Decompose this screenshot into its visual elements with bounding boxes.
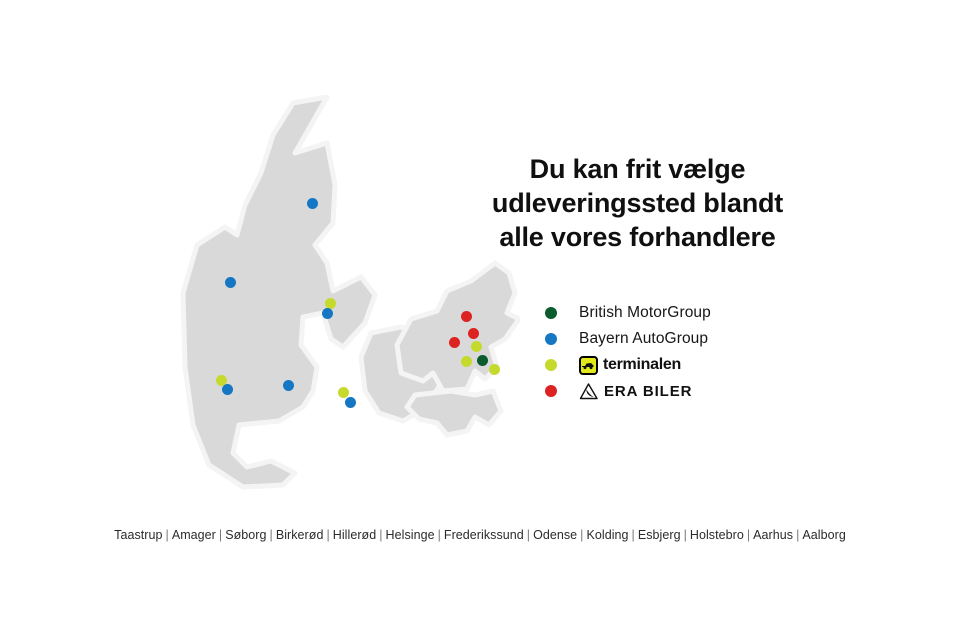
legend: British MotorGroup Bayern AutoGroup term… — [545, 300, 805, 404]
city-hillerød: Hillerød — [333, 528, 376, 542]
map-dot-esbjerg-bayern[interactable] — [222, 384, 233, 395]
terminalen-car-icon — [579, 356, 598, 375]
legend-swatch-blue — [545, 333, 557, 345]
city-aalborg: Aalborg — [802, 528, 845, 542]
denmark-map — [175, 95, 520, 505]
city-separator: | — [376, 528, 385, 542]
legend-label-british-motorgroup: British MotorGroup — [579, 304, 711, 322]
city-kolding: Kolding — [586, 528, 628, 542]
city-separator: | — [435, 528, 444, 542]
map-dot-amager-terminalen[interactable] — [489, 364, 500, 375]
city-separator: | — [629, 528, 638, 542]
city-taastrup: Taastrup — [114, 528, 162, 542]
terminalen-wordmark: terminalen — [603, 356, 681, 374]
legend-label-bayern-autogroup: Bayern AutoGroup — [579, 330, 708, 348]
terminalen-logo: terminalen — [579, 356, 681, 375]
era-biler-triangle-icon — [579, 383, 599, 400]
city-separator: | — [323, 528, 332, 542]
headline-line-2: udleveringssted blandt — [470, 186, 805, 220]
legend-item-bayern-autogroup[interactable]: Bayern AutoGroup — [545, 326, 805, 352]
city-separator: | — [744, 528, 753, 542]
city-birkerød: Birkerød — [276, 528, 324, 542]
city-odense: Odense — [533, 528, 577, 542]
map-dot-odense-terminalen[interactable] — [338, 387, 349, 398]
city-frederikssund: Frederikssund — [444, 528, 524, 542]
map-dot-frederikssund-era[interactable] — [449, 337, 460, 348]
map-dot-kolding[interactable] — [283, 380, 294, 391]
page-title: Du kan frit vælge udleveringssted blandt… — [470, 152, 805, 254]
headline-line-1: Du kan frit vælge — [470, 152, 805, 186]
map-dot-hillerod-era[interactable] — [468, 328, 479, 339]
era-biler-wordmark: ERA BILER — [604, 383, 692, 400]
map-dot-helsinge-era[interactable] — [461, 311, 472, 322]
legend-item-era-biler[interactable]: ERA BILER — [545, 378, 805, 404]
city-aarhus: Aarhus — [753, 528, 793, 542]
legend-swatch-yellow — [545, 359, 557, 371]
region-zealand — [397, 263, 519, 391]
headline-line-3: alle vores forhandlere — [470, 220, 805, 254]
denmark-map-svg — [175, 95, 520, 505]
map-dot-birkerod-terminalen[interactable] — [471, 341, 482, 352]
map-dot-holstebro[interactable] — [225, 277, 236, 288]
city-list: Taastrup|Amager|Søborg|Birkerød|Hillerød… — [0, 528, 960, 542]
city-separator: | — [681, 528, 690, 542]
city-søborg: Søborg — [225, 528, 266, 542]
map-dot-aalborg[interactable] — [307, 198, 318, 209]
legend-item-british-motorgroup[interactable]: British MotorGroup — [545, 300, 805, 326]
map-dot-taastrup-terminalen[interactable] — [461, 356, 472, 367]
city-separator: | — [793, 528, 802, 542]
city-separator: | — [267, 528, 276, 542]
city-separator: | — [524, 528, 533, 542]
map-dot-aarhus-terminalen[interactable] — [325, 298, 336, 309]
city-separator: | — [216, 528, 225, 542]
legend-swatch-red — [545, 385, 557, 397]
city-amager: Amager — [172, 528, 216, 542]
city-holstebro: Holstebro — [690, 528, 744, 542]
legend-swatch-green — [545, 307, 557, 319]
map-dot-odense-bayern[interactable] — [345, 397, 356, 408]
legend-item-terminalen[interactable]: terminalen — [545, 352, 805, 378]
region-jutland — [183, 97, 375, 487]
poster-canvas: Du kan frit vælge udleveringssted blandt… — [0, 0, 960, 640]
map-dot-aarhus-bayern[interactable] — [322, 308, 333, 319]
city-helsinge: Helsinge — [386, 528, 435, 542]
city-esbjerg: Esbjerg — [638, 528, 681, 542]
city-separator: | — [163, 528, 172, 542]
era-biler-logo: ERA BILER — [579, 383, 692, 400]
map-dot-soborg-british[interactable] — [477, 355, 488, 366]
region-lolland-falster — [407, 391, 501, 435]
